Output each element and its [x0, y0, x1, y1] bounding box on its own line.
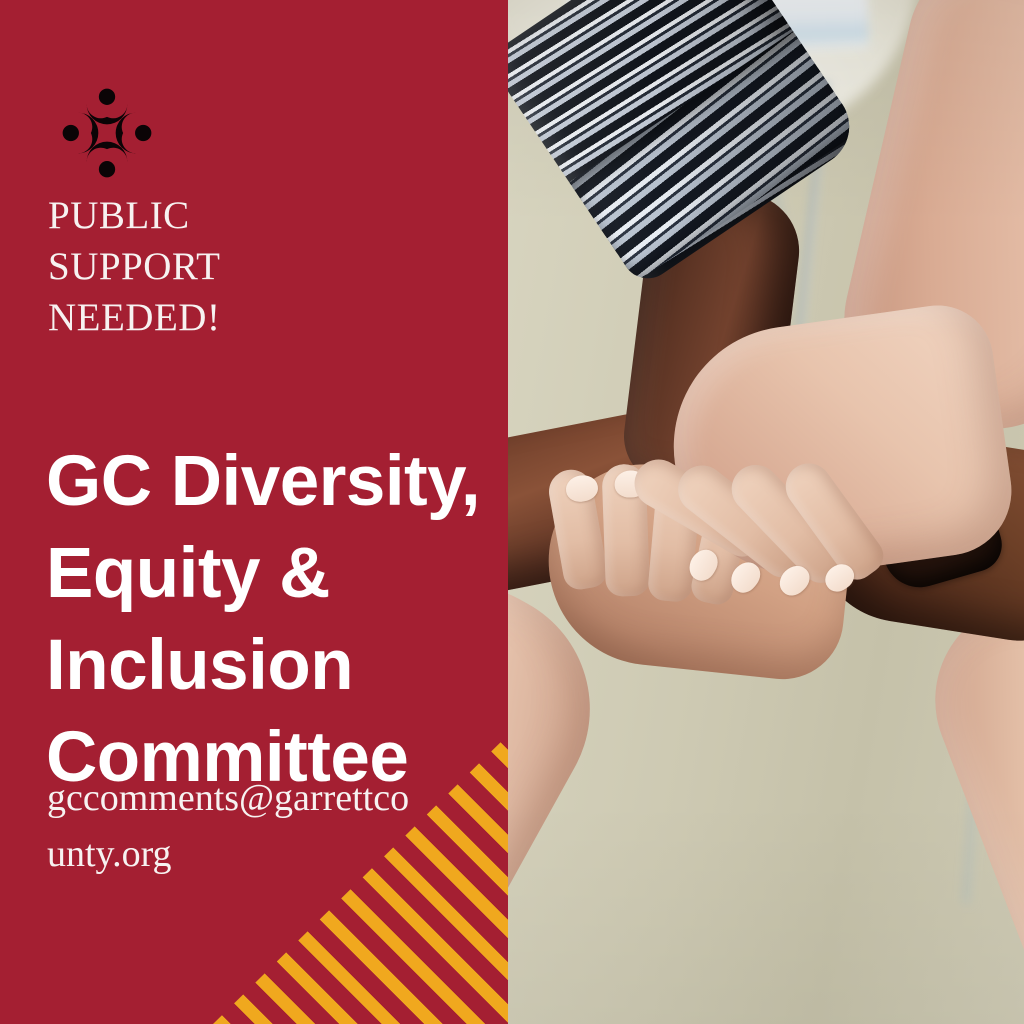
contact-email[interactable]: gccomments@garrettcounty.org: [47, 770, 427, 882]
red-info-panel: PUBLIC SUPPORT NEEDED! GC Diversity, Equ…: [0, 0, 508, 1024]
hands-photo: [508, 0, 1024, 1024]
eyebrow-call-to-action: PUBLIC SUPPORT NEEDED!: [48, 190, 468, 343]
garrett-county-people-circle-logo: [56, 82, 158, 184]
page-title: GC Diversity, Equity & Inclusion Committ…: [46, 436, 496, 804]
poster-canvas: PUBLIC SUPPORT NEEDED! GC Diversity, Equ…: [0, 0, 1024, 1024]
